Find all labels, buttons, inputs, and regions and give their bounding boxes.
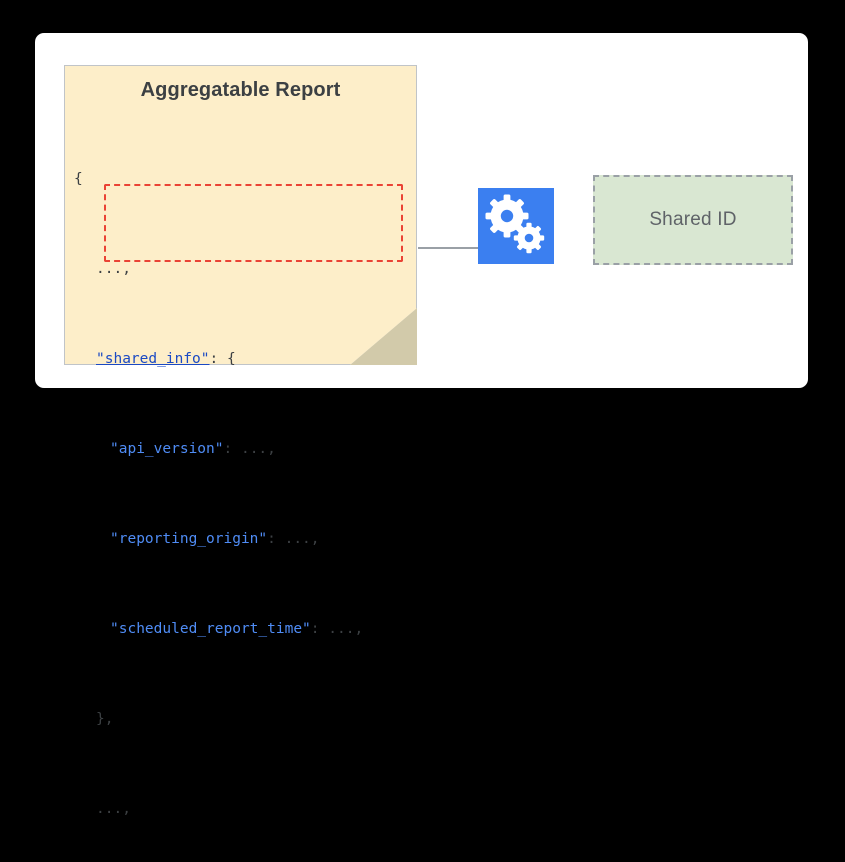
shared-id-label: Shared ID xyxy=(649,209,736,231)
code-line-reporting-origin: "reporting_origin": ..., xyxy=(74,528,363,551)
aggregatable-report-note: Aggregatable Report { ..., "shared_info"… xyxy=(64,65,417,365)
code-line-scheduled-report-time: "scheduled_report_time": ..., xyxy=(74,618,363,641)
code-line-close-brace-inner: }, xyxy=(74,708,363,731)
diagram-canvas: Aggregatable Report { ..., "shared_info"… xyxy=(0,0,845,431)
shared-id-box: Shared ID xyxy=(593,175,793,265)
code-line-shared-info: "shared_info": { xyxy=(74,348,363,371)
code-line-open-brace: { xyxy=(74,168,363,191)
scheduled-report-time-key: "scheduled_report_time" xyxy=(110,621,311,637)
report-json-code: { ..., "shared_info": { "api_version": .… xyxy=(74,123,363,862)
gears-icon xyxy=(478,188,554,264)
gears-processor-tile xyxy=(478,188,554,264)
code-line-ellipsis-bottom: ..., xyxy=(74,798,363,821)
api-version-key: "api_version" xyxy=(110,441,224,457)
code-line-ellipsis-top: ..., xyxy=(74,258,363,281)
code-line-api-version: "api_version": ..., xyxy=(74,438,363,461)
shared-info-link[interactable]: "shared_info" xyxy=(96,351,210,367)
note-title: Aggregatable Report xyxy=(64,79,417,102)
diagram-card: Aggregatable Report { ..., "shared_info"… xyxy=(35,33,808,388)
reporting-origin-key: "reporting_origin" xyxy=(110,531,267,547)
